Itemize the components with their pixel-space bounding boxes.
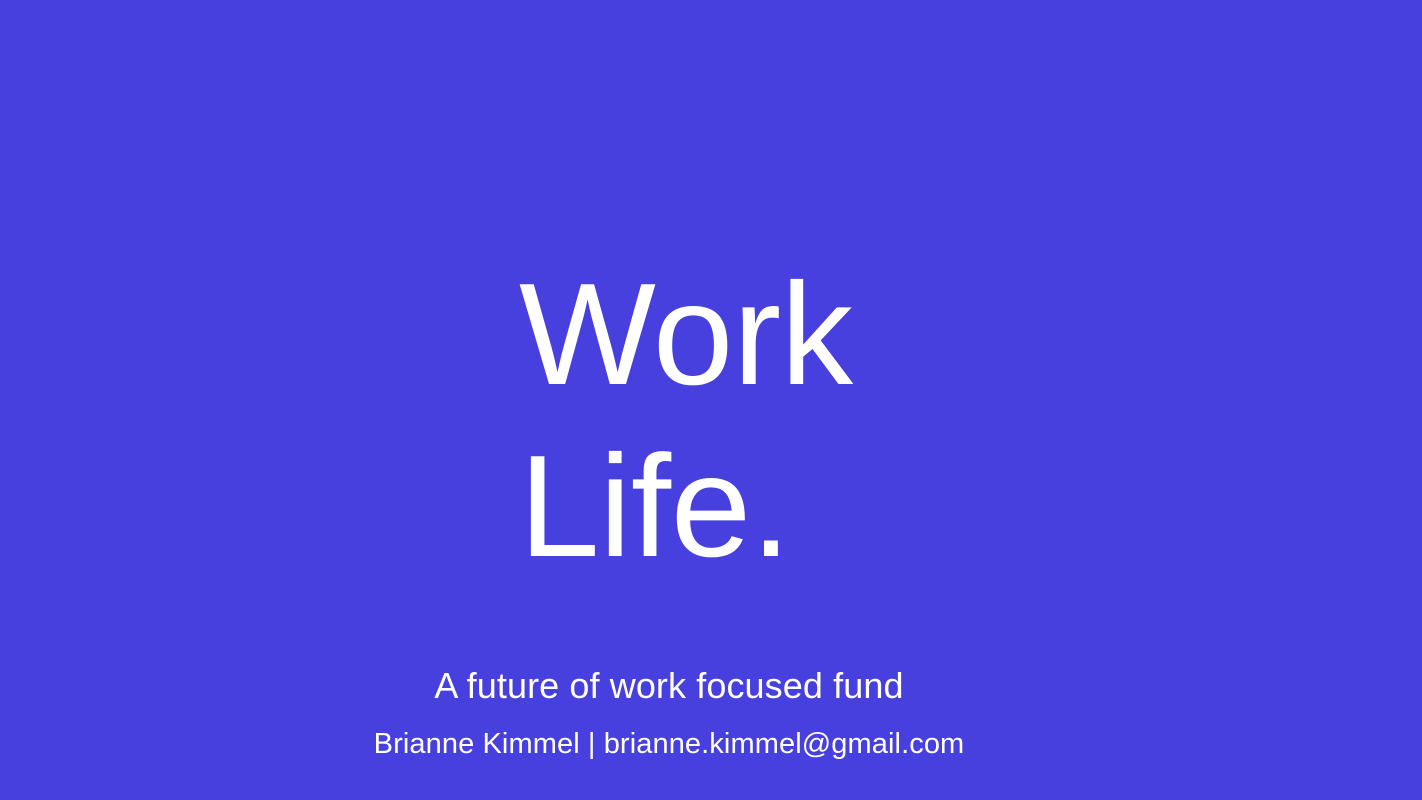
slide-byline: Brianne Kimmel | brianne.kimmel@gmail.co… xyxy=(0,727,1338,761)
caption-group: A future of work focused fund Brianne Ki… xyxy=(0,663,1422,761)
title-slide: Work Life. A future of work focused fund… xyxy=(0,0,1422,800)
slide-title: Work Life. xyxy=(519,248,939,592)
title-line-work: Work xyxy=(519,248,939,420)
title-line-life: Life. xyxy=(519,420,939,592)
slide-subtitle: A future of work focused fund xyxy=(0,663,1338,709)
